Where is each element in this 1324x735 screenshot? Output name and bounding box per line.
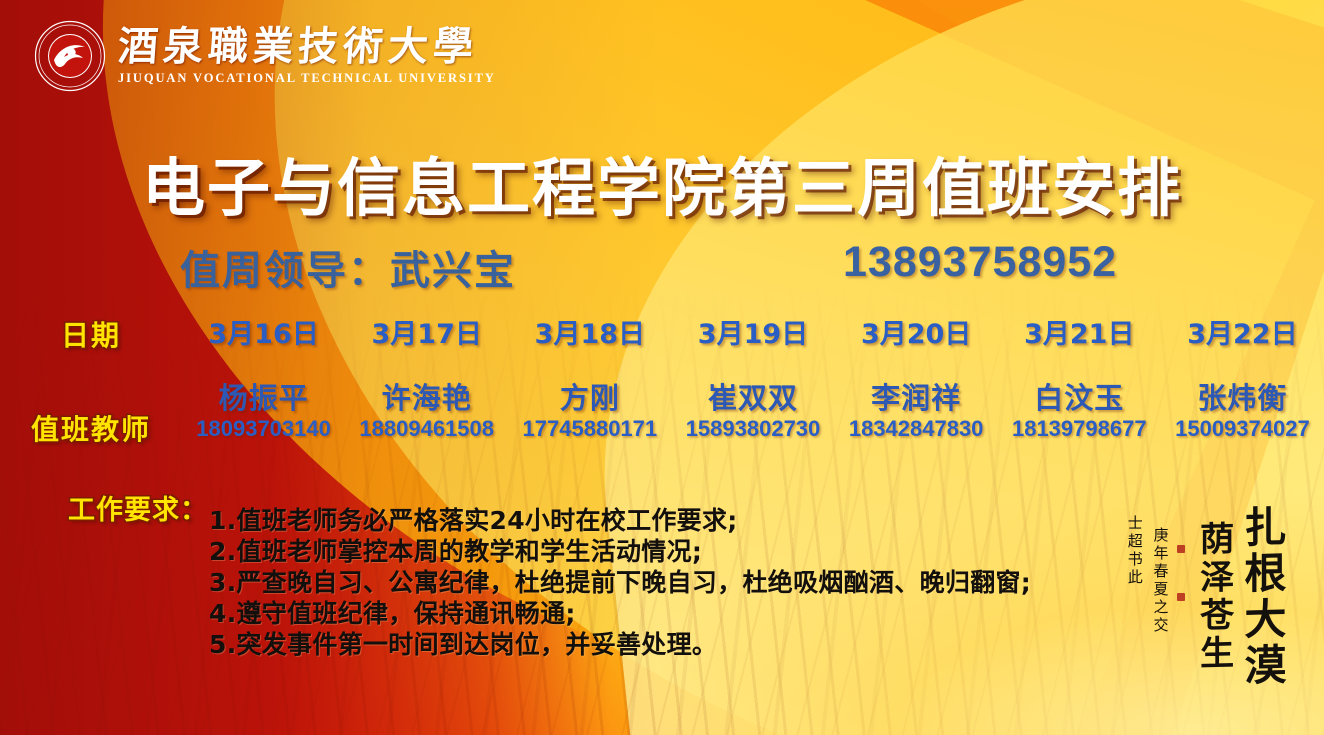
- date-value: 3月16日: [182, 312, 345, 351]
- duty-schedule-poster: 酒泉職業技術大學 JIUQUAN VOCATIONAL TECHNICAL UN…: [0, 0, 1324, 735]
- date-cell: 3月18日: [508, 312, 671, 351]
- leader-phone: 13893758952: [843, 238, 1117, 287]
- teacher-row-label: 值班教师: [0, 382, 182, 448]
- teacher-phone: 17745880171: [508, 416, 671, 442]
- teacher-cell: 许海艳 18809461508: [345, 382, 508, 442]
- teacher-name: 杨振平: [182, 382, 345, 414]
- teacher-phone: 18342847830: [835, 416, 998, 442]
- date-cell: 3月19日: [671, 312, 834, 351]
- teacher-phone: 18139798677: [998, 416, 1161, 442]
- teacher-cell: 杨振平 18093703140: [182, 382, 345, 442]
- teacher-row: 值班教师 杨振平 18093703140 许海艳 18809461508 方刚 …: [0, 382, 1324, 448]
- calligraphy-inscription-signature: 士超书此: [1125, 505, 1141, 587]
- requirement-item: 5.突发事件第一时间到达岗位，并妥善处理。: [209, 629, 1031, 660]
- teacher-cell: 李润祥 18342847830: [835, 382, 998, 442]
- teacher-name: 张炜衡: [1161, 382, 1324, 414]
- teacher-phone: 15893802730: [671, 416, 834, 442]
- calligraphy-seal-group: [1177, 505, 1185, 601]
- date-row-label: 日期: [0, 312, 182, 354]
- requirements-list: 1.值班老师务必严格落实24小时在校工作要求; 2.值班老师掌控本周的教学和学生…: [209, 505, 1031, 660]
- teacher-name: 许海艳: [345, 382, 508, 414]
- schedule-table: 日期 3月16日 3月17日 3月18日 3月19日 3月20日 3月21日 3…: [0, 312, 1324, 448]
- requirement-item: 2.值班老师掌控本周的教学和学生活动情况;: [209, 536, 1031, 567]
- teacher-phone: 18809461508: [345, 416, 508, 442]
- teacher-phone: 15009374027: [1161, 416, 1324, 442]
- date-cell: 3月22日: [1161, 312, 1324, 351]
- teacher-cell: 白汶玉 18139798677: [998, 382, 1161, 442]
- calligraphy-line-2: 荫泽苍生: [1195, 505, 1230, 674]
- teacher-cell: 崔双双 15893802730: [671, 382, 834, 442]
- leader-name: 值周领导：武兴宝: [180, 238, 516, 296]
- calligraphy-line-1: 扎根大漠: [1239, 504, 1282, 689]
- requirement-item: 4.遵守值班纪律，保持通讯畅通;: [209, 598, 1031, 629]
- date-value: 3月20日: [835, 312, 998, 351]
- date-value: 3月17日: [345, 312, 508, 351]
- date-value: 3月19日: [671, 312, 834, 351]
- date-cell: 3月16日: [182, 312, 345, 351]
- teacher-name: 白汶玉: [998, 382, 1161, 414]
- university-name-en: JIUQUAN VOCATIONAL TECHNICAL UNIVERSITY: [118, 71, 496, 86]
- seal-icon: [1177, 545, 1185, 553]
- date-cell: 3月17日: [345, 312, 508, 351]
- date-value: 3月22日: [1161, 312, 1324, 351]
- university-name-cn: 酒泉職業技術大學: [117, 26, 498, 68]
- teacher-cell: 张炜衡 15009374027: [1161, 382, 1324, 442]
- requirement-item: 1.值班老师务必严格落实24小时在校工作要求;: [209, 505, 1031, 536]
- requirement-item: 3.严查晚自习、公寓纪律，杜绝提前下晚自习，杜绝吸烟酗酒、晚归翻窗;: [209, 567, 1031, 598]
- calligraphy-inscription-date: 庚年春夏之交: [1151, 505, 1167, 635]
- university-logo: 酒泉職業技術大學 JIUQUAN VOCATIONAL TECHNICAL UN…: [34, 20, 496, 92]
- date-value: 3月18日: [508, 312, 671, 351]
- calligraphy-art: 士超书此 庚年春夏之交 荫泽苍生 扎根大漠: [1125, 505, 1282, 689]
- date-value: 3月21日: [998, 312, 1161, 351]
- requirements-label: 工作要求：: [68, 488, 208, 527]
- teacher-cell: 方刚 17745880171: [508, 382, 671, 442]
- page-title: 电子与信息工程学院第三周值班安排: [0, 138, 1324, 229]
- date-cell: 3月21日: [998, 312, 1161, 351]
- teacher-phone: 18093703140: [182, 416, 345, 442]
- teacher-name: 崔双双: [671, 382, 834, 414]
- university-seal-icon: [34, 20, 106, 92]
- teacher-name: 方刚: [508, 382, 671, 414]
- leader-row: 值周领导：武兴宝 13893758952: [0, 238, 1324, 290]
- seal-icon: [1177, 593, 1185, 601]
- teacher-name: 李润祥: [835, 382, 998, 414]
- date-row: 日期 3月16日 3月17日 3月18日 3月19日 3月20日 3月21日 3…: [0, 312, 1324, 354]
- date-cell: 3月20日: [835, 312, 998, 351]
